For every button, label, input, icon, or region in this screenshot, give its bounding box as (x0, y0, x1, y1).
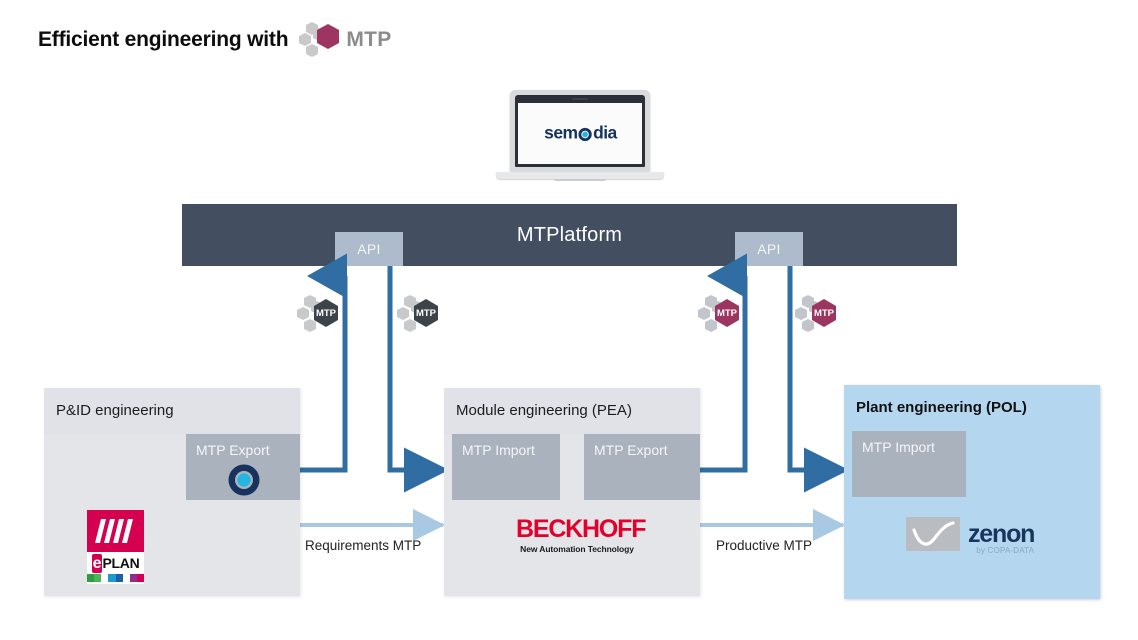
panel-pid-title: P&ID engineering (56, 402, 174, 419)
api-box-right[interactable]: API (735, 232, 803, 266)
io-box-pea-mtp-import-label: MTP Import (462, 442, 535, 458)
svg-text:MTP: MTP (814, 308, 835, 319)
diagram-canvas: Efficient engineering with MTP sem (0, 0, 1138, 640)
beckhoff-logo: BECKHOFF New Automation Technology (516, 516, 638, 554)
mtp-hexagon-icon-3: MTP (698, 294, 750, 346)
page-title-text: Efficient engineering with (38, 28, 288, 52)
semodia-prefix: sem (544, 123, 577, 143)
mtp-logo-word: MTP (346, 28, 391, 52)
laptop-lid: sem dia (510, 90, 650, 172)
io-box-pea-mtp-export[interactable]: MTP Export (584, 434, 700, 500)
api-box-left[interactable]: API (335, 232, 403, 266)
mtplatform-bar: MTPlatform (182, 204, 957, 266)
page-title: Efficient engineering with MTP (38, 22, 392, 58)
zenon-wordmark-group: zenon by COPA-DATA (968, 522, 1034, 547)
eplan-logo: ePLAN (87, 510, 144, 584)
panel-pid-engineering: P&ID engineering MTP Export (44, 388, 300, 596)
api-box-right-label: API (757, 241, 780, 257)
eplan-e-letter: e (92, 554, 103, 573)
mtp-hexagon-icon (298, 22, 344, 58)
panel-pea-title: Module engineering (PEA) (456, 402, 632, 419)
mtp-hexagon-icon-4: MTP (795, 294, 847, 346)
io-box-pea-mtp-import[interactable]: MTP Import (452, 434, 560, 500)
eplan-logo-wordmark: ePLAN (87, 552, 144, 574)
zenon-logo-mark (906, 517, 960, 551)
beckhoff-tagline: New Automation Technology (516, 544, 638, 554)
semodia-o-icon (577, 126, 593, 142)
mtp-hexagon-icon-1: MTP (297, 294, 349, 346)
mtplatform-label: MTPlatform (182, 224, 957, 247)
zenon-logo: zenon by COPA-DATA (906, 517, 1034, 551)
laptop-base (496, 172, 664, 179)
semodia-suffix: dia (593, 123, 617, 143)
eplan-color-bar (87, 574, 144, 582)
svg-text:MTP: MTP (316, 308, 337, 319)
panel-plant-engineering: Plant engineering (POL) MTP Import zenon… (844, 385, 1100, 599)
io-box-pid-mtp-export[interactable]: MTP Export (186, 434, 300, 500)
laptop-screen: sem dia (518, 103, 642, 164)
flow-label-requirements-mtp: Requirements MTP (305, 538, 421, 553)
mtp-hexagon-icon-2: MTP (397, 294, 449, 346)
io-box-pid-mtp-export-label: MTP Export (196, 442, 270, 458)
io-box-pol-mtp-import-label: MTP Import (862, 439, 935, 455)
api-box-left-label: API (357, 241, 380, 257)
semodia-logo: sem dia (544, 123, 617, 143)
io-box-pea-mtp-export-label: MTP Export (594, 442, 668, 458)
svg-text:MTP: MTP (416, 308, 437, 319)
laptop-bezel: sem dia (515, 95, 645, 167)
eplan-plan-letters: PLAN (102, 555, 139, 571)
beckhoff-wordmark: BECKHOFF (516, 516, 638, 542)
zenon-subtitle: by COPA-DATA (976, 546, 1034, 555)
laptop-camera-icon (572, 98, 588, 100)
laptop-icon: sem dia (496, 90, 664, 190)
panel-pol-title: Plant engineering (POL) (856, 399, 1027, 416)
laptop-foot (554, 179, 606, 181)
eplan-logo-mark (87, 510, 144, 552)
semodia-ring-icon (226, 462, 262, 498)
flow-label-productive-mtp: Productive MTP (716, 538, 812, 553)
io-box-pol-mtp-import[interactable]: MTP Import (852, 431, 966, 497)
zenon-wordmark: zenon (968, 522, 1034, 547)
svg-text:MTP: MTP (717, 308, 738, 319)
panel-module-engineering: Module engineering (PEA) MTP Import MTP … (444, 388, 700, 596)
